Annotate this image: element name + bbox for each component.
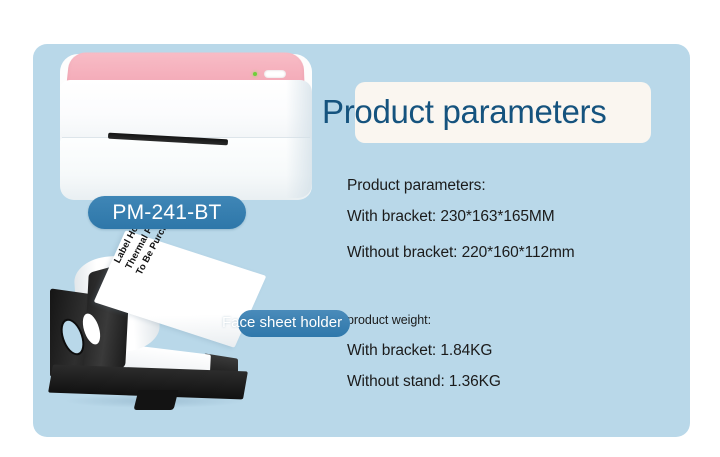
printer-illustration xyxy=(60,52,312,200)
dimension-with-bracket: With bracket: 230*163*165MM xyxy=(347,208,555,226)
status-led-icon xyxy=(253,72,257,76)
printer-lower-body xyxy=(60,138,312,200)
product-parameters-page: PM-241-BT Label Holder Thermal Paper Nee… xyxy=(0,0,720,457)
dimension-without-bracket: Without bracket: 220*160*112mm xyxy=(347,244,575,262)
model-badge: PM-241-BT xyxy=(88,196,246,229)
feed-button-icon xyxy=(264,70,286,78)
page-title: Product parameters xyxy=(322,88,682,135)
label-holder-illustration: Label Holder Thermal Paper Need To Be Pu… xyxy=(44,252,266,422)
printer-side-shading xyxy=(286,80,312,198)
weight-with-bracket: With bracket: 1.84KG xyxy=(347,342,492,360)
holder-badge-label: Face sheet holder xyxy=(222,314,342,331)
weight-without-stand: Without stand: 1.36KG xyxy=(347,373,501,391)
holder-base-foot xyxy=(134,390,179,410)
dimensions-heading: Product parameters: xyxy=(347,177,486,195)
weight-heading: product weight: xyxy=(347,313,431,327)
printer-upper-body xyxy=(60,80,312,142)
